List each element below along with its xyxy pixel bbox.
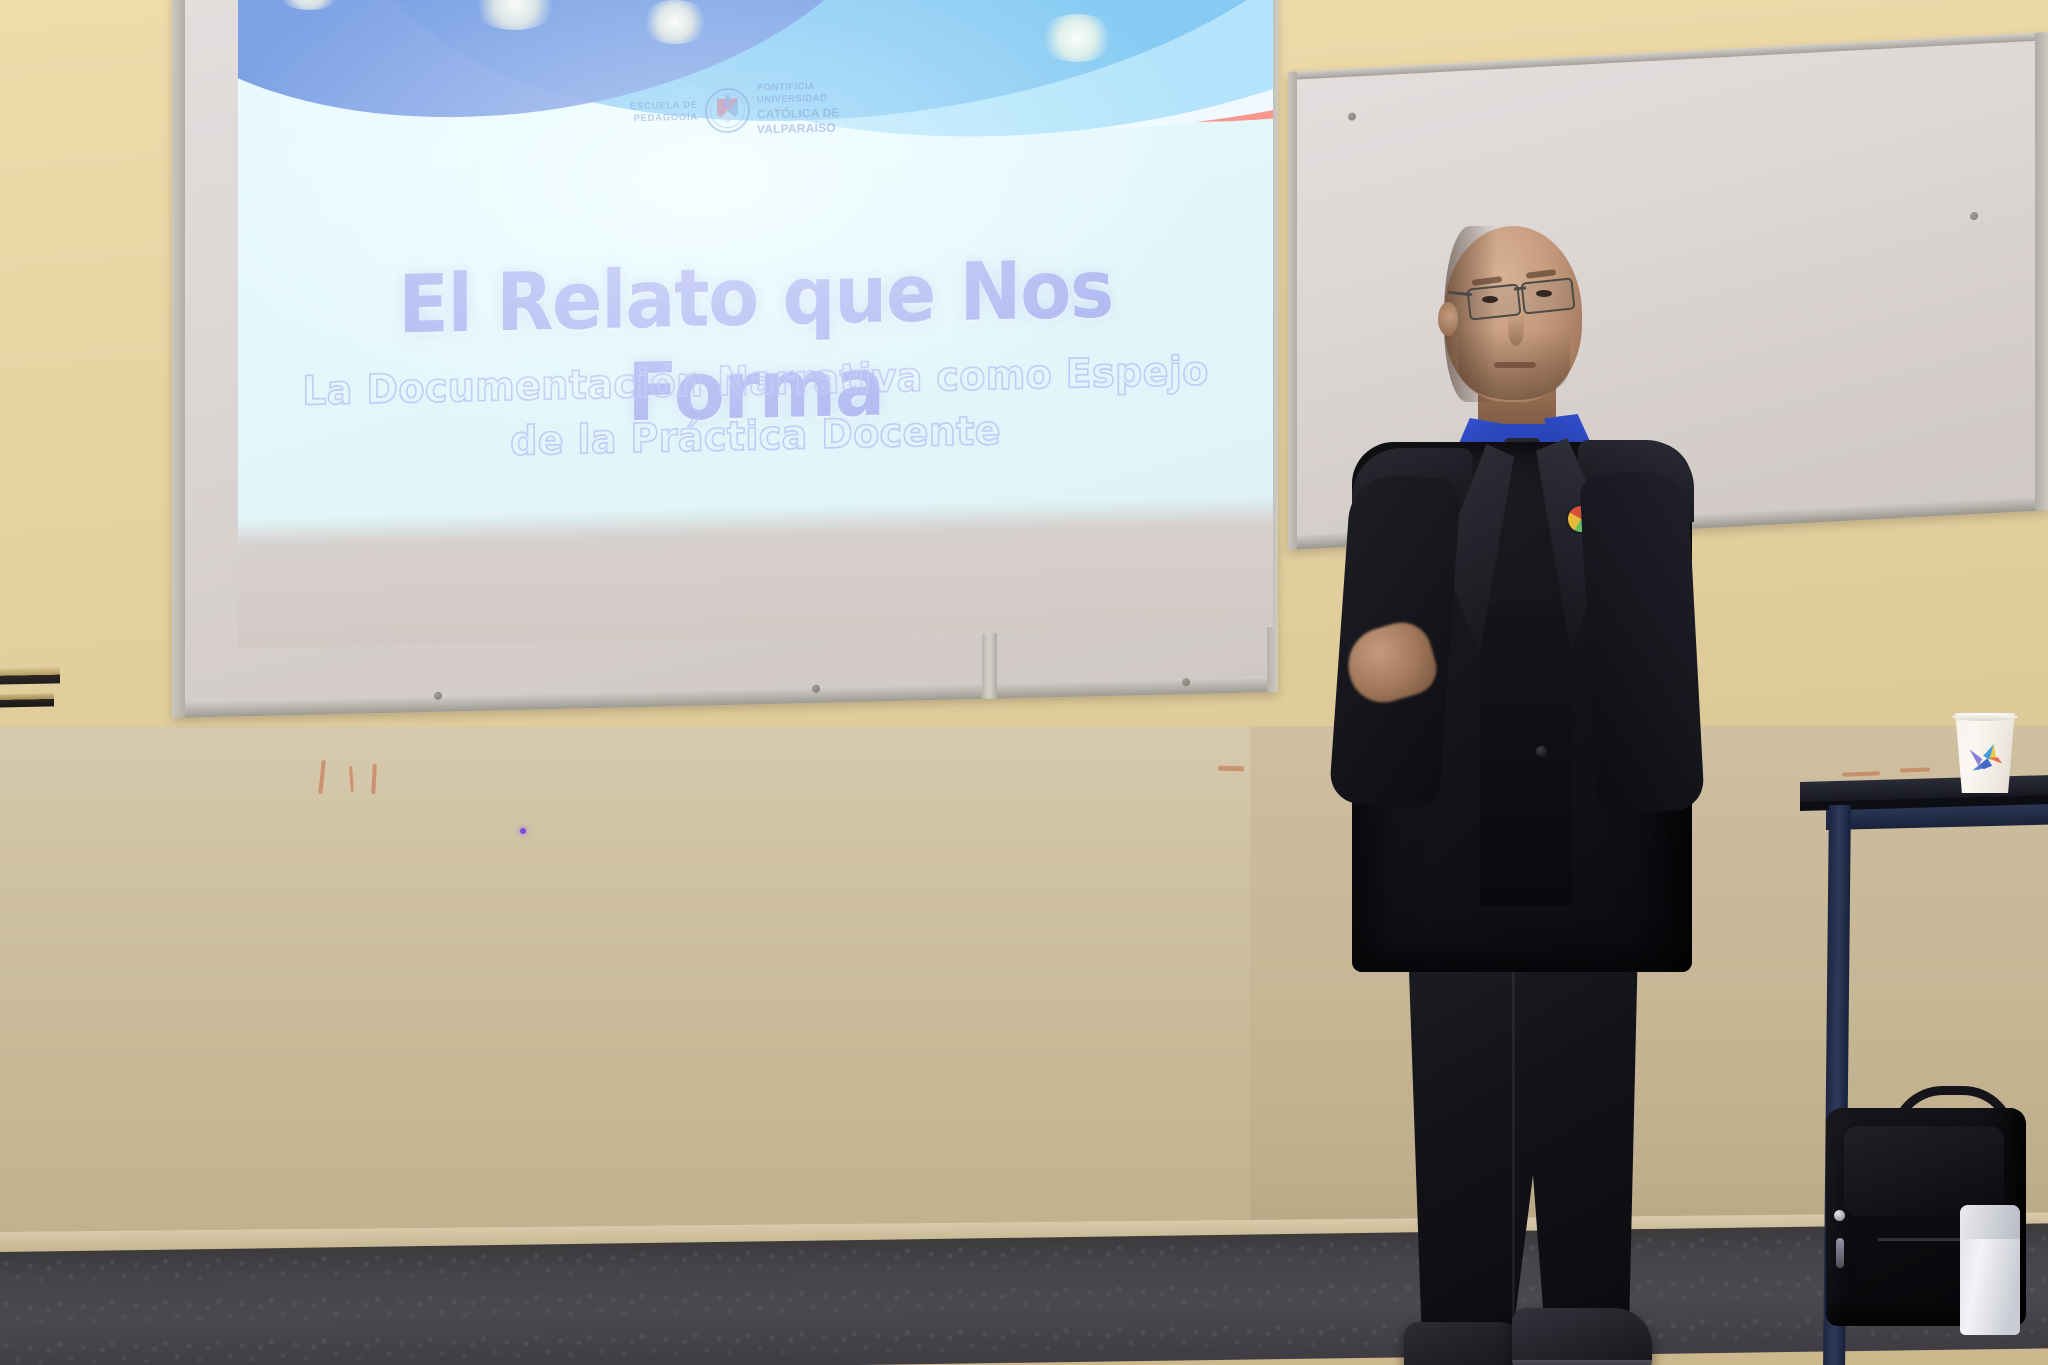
white-bottle bbox=[1960, 1205, 2020, 1335]
presenter-nose bbox=[1508, 312, 1524, 346]
presenter bbox=[1330, 226, 1750, 1365]
marker-tray-lower bbox=[0, 693, 54, 707]
bottle-cap bbox=[1960, 1205, 2020, 1239]
glasses-lens-right bbox=[1520, 277, 1575, 314]
lower-wall-left bbox=[0, 726, 1250, 1286]
origami-crane-icon bbox=[1966, 743, 2006, 771]
wave-band-yellow bbox=[921, 0, 1273, 157]
wave-band-coral bbox=[765, 0, 1273, 170]
whiteboard-frame-right bbox=[2035, 32, 2048, 511]
university-line-4: VALPARAÍSO bbox=[757, 121, 840, 138]
trouser-seam bbox=[1512, 966, 1515, 1346]
university-name: PONTIFICIA UNIVERSIDAD CATÓLICA DE VALPA… bbox=[757, 81, 840, 139]
slide-canvas: ESCUELA DE PEDAGOGÍA PONTIFICIA UNIVERSI… bbox=[238, 0, 1273, 650]
projected-slide: ESCUELA DE PEDAGOGÍA PONTIFICIA UNIVERSI… bbox=[238, 0, 1273, 650]
bag-charm bbox=[1834, 1210, 1845, 1221]
laser-pointer-dot bbox=[520, 828, 526, 834]
projection-bottom-falloff bbox=[238, 495, 1273, 650]
jacket-button bbox=[1536, 746, 1547, 757]
pucv-logo-lockup: ESCUELA DE PEDAGOGÍA PONTIFICIA UNIVERSI… bbox=[630, 81, 840, 142]
school-line-2: PEDAGOGÍA bbox=[630, 112, 698, 125]
whiteboard-screw bbox=[1970, 212, 1978, 220]
presenter-trousers bbox=[1398, 942, 1648, 1365]
marker-tray bbox=[0, 667, 60, 684]
presenter-shoe-right bbox=[1512, 1308, 1652, 1365]
jacket-front-opening bbox=[1480, 606, 1572, 906]
slide-subtitle: La Documentación Narrativa como Espejo d… bbox=[292, 344, 1218, 475]
whiteboard-frame-left bbox=[172, 0, 185, 718]
cup-rim bbox=[1952, 713, 2018, 721]
pucv-crest-icon bbox=[705, 88, 750, 134]
school-name: ESCUELA DE PEDAGOGÍA bbox=[630, 100, 698, 125]
bag-flap bbox=[1844, 1126, 2004, 1216]
presenter-ear bbox=[1438, 302, 1458, 336]
whiteboard-screw bbox=[1348, 112, 1356, 120]
presenter-mouth bbox=[1494, 362, 1536, 368]
whiteboard-frame-left bbox=[1288, 72, 1297, 550]
screenshot-root: ESCUELA DE PEDAGOGÍA PONTIFICIA UNIVERSI… bbox=[0, 0, 2048, 1365]
presenter-arm-right bbox=[1579, 469, 1705, 814]
bag-charm bbox=[1836, 1238, 1844, 1268]
paper-cup bbox=[1952, 713, 2018, 793]
wall-scribble bbox=[1218, 766, 1244, 772]
